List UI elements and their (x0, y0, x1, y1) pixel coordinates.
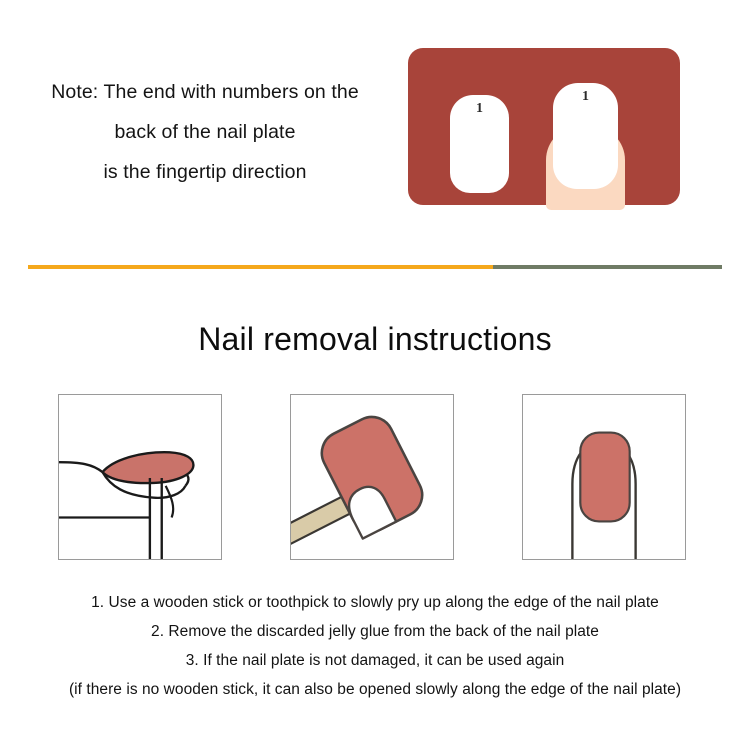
step-line-3: 3. If the nail plate is not damaged, it … (0, 646, 750, 675)
step-line-1: 1. Use a wooden stick or toothpick to sl… (0, 588, 750, 617)
stick-under-nail-icon (291, 395, 453, 559)
panel-stick-under-nail (290, 394, 454, 560)
page-title: Nail removal instructions (0, 318, 750, 360)
panel-pry-up-side-view (58, 394, 222, 560)
divider-segment-green (493, 265, 722, 269)
note-section: Note: The end with numbers on the back o… (0, 0, 750, 250)
sample-nail-right: 1 (553, 83, 618, 189)
nail-plate-card-background (408, 48, 680, 205)
sample-nail-right-number: 1 (553, 89, 618, 105)
note-text-block: Note: The end with numbers on the back o… (14, 72, 396, 192)
sample-nail-left-number: 1 (450, 101, 509, 117)
note-line-1: Note: The end with numbers on the (14, 72, 396, 112)
sample-nail-left: 1 (450, 95, 509, 193)
section-divider (28, 265, 722, 269)
instruction-panels (58, 394, 692, 564)
step-line-2: 2. Remove the discarded jelly glue from … (0, 617, 750, 646)
panel-intact-nail-plate (522, 394, 686, 560)
nail-plate-illustration: 1 1 (408, 48, 680, 210)
note-line-2: back of the nail plate (14, 112, 396, 152)
instruction-steps: 1. Use a wooden stick or toothpick to sl… (0, 588, 750, 704)
intact-nail-plate-icon (523, 395, 685, 559)
pry-up-side-view-icon (59, 395, 221, 559)
step-line-4: (if there is no wooden stick, it can als… (0, 675, 750, 704)
note-line-3: is the fingertip direction (14, 152, 396, 192)
divider-segment-orange (28, 265, 493, 269)
